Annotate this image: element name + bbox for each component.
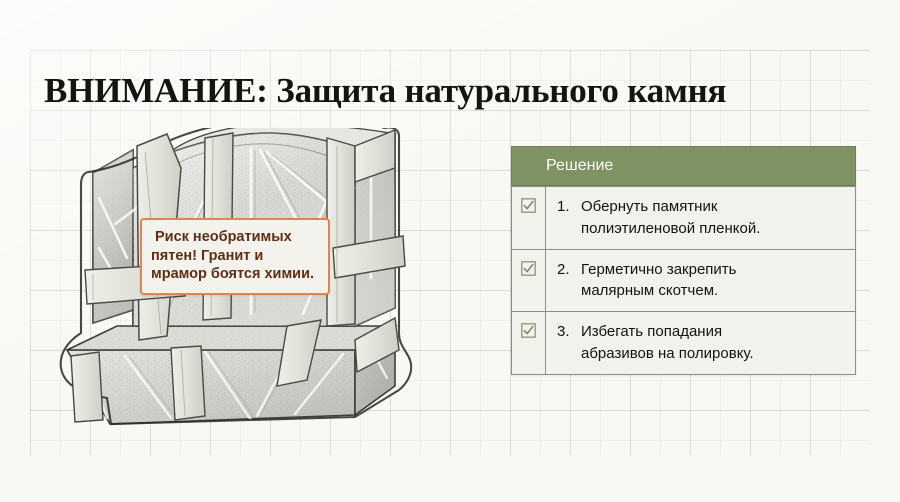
row-text-line1: Обернуть памятник	[581, 198, 717, 215]
page-title: ВНИМАНИЕ: Защита натурального камня	[44, 72, 856, 110]
checkbox-cell[interactable]	[512, 312, 546, 374]
solution-table: Решение 1. Обернуть памятник полиэтилено…	[511, 147, 856, 375]
row-number: 3.	[557, 321, 581, 365]
row-text-line2: малярным скотчем.	[581, 280, 847, 302]
checkbox-checked-icon[interactable]	[521, 261, 536, 276]
row-body: 2. Герметично закрепить малярным скотчем…	[546, 250, 855, 312]
row-text-line2: полиэтиленовой пленкой.	[581, 218, 847, 240]
row-text-line1: Избегать попадания	[581, 323, 722, 340]
checkbox-cell[interactable]	[512, 250, 546, 312]
row-text-line2: абразивов на полировку.	[581, 343, 847, 365]
table-row[interactable]: 3. Избегать попадания абразивов на полир…	[512, 311, 855, 374]
table-row[interactable]: 2. Герметично закрепить малярным скотчем…	[512, 249, 855, 312]
checkbox-checked-icon[interactable]	[521, 323, 536, 338]
callout-line-3: мрамор боятся химии.	[151, 265, 318, 284]
table-header-solution: Решение	[511, 146, 856, 186]
slide-canvas: ВНИМАНИЕ: Защита натурального камня	[0, 0, 900, 502]
row-number: 2.	[557, 259, 581, 303]
table-row[interactable]: 1. Обернуть памятник полиэтиленовой плен…	[512, 186, 855, 249]
row-text: Избегать попадания абразивов на полировк…	[581, 321, 847, 365]
row-text: Обернуть памятник полиэтиленовой пленкой…	[581, 196, 847, 240]
risk-callout-box: Риск необратимых пятен! Гранит и мрамор …	[140, 218, 330, 295]
callout-line-1: Риск необратимых	[151, 228, 318, 247]
row-text-line1: Герметично закрепить	[581, 261, 736, 278]
callout-line-2: пятен! Гранит и	[151, 247, 318, 266]
row-body: 1. Обернуть памятник полиэтиленовой плен…	[546, 187, 855, 249]
row-body: 3. Избегать попадания абразивов на полир…	[546, 312, 855, 374]
row-text: Герметично закрепить малярным скотчем.	[581, 259, 847, 303]
checkbox-checked-icon[interactable]	[521, 198, 536, 213]
monument-base	[67, 326, 395, 424]
checkbox-cell[interactable]	[512, 187, 546, 249]
row-number: 1.	[557, 196, 581, 240]
